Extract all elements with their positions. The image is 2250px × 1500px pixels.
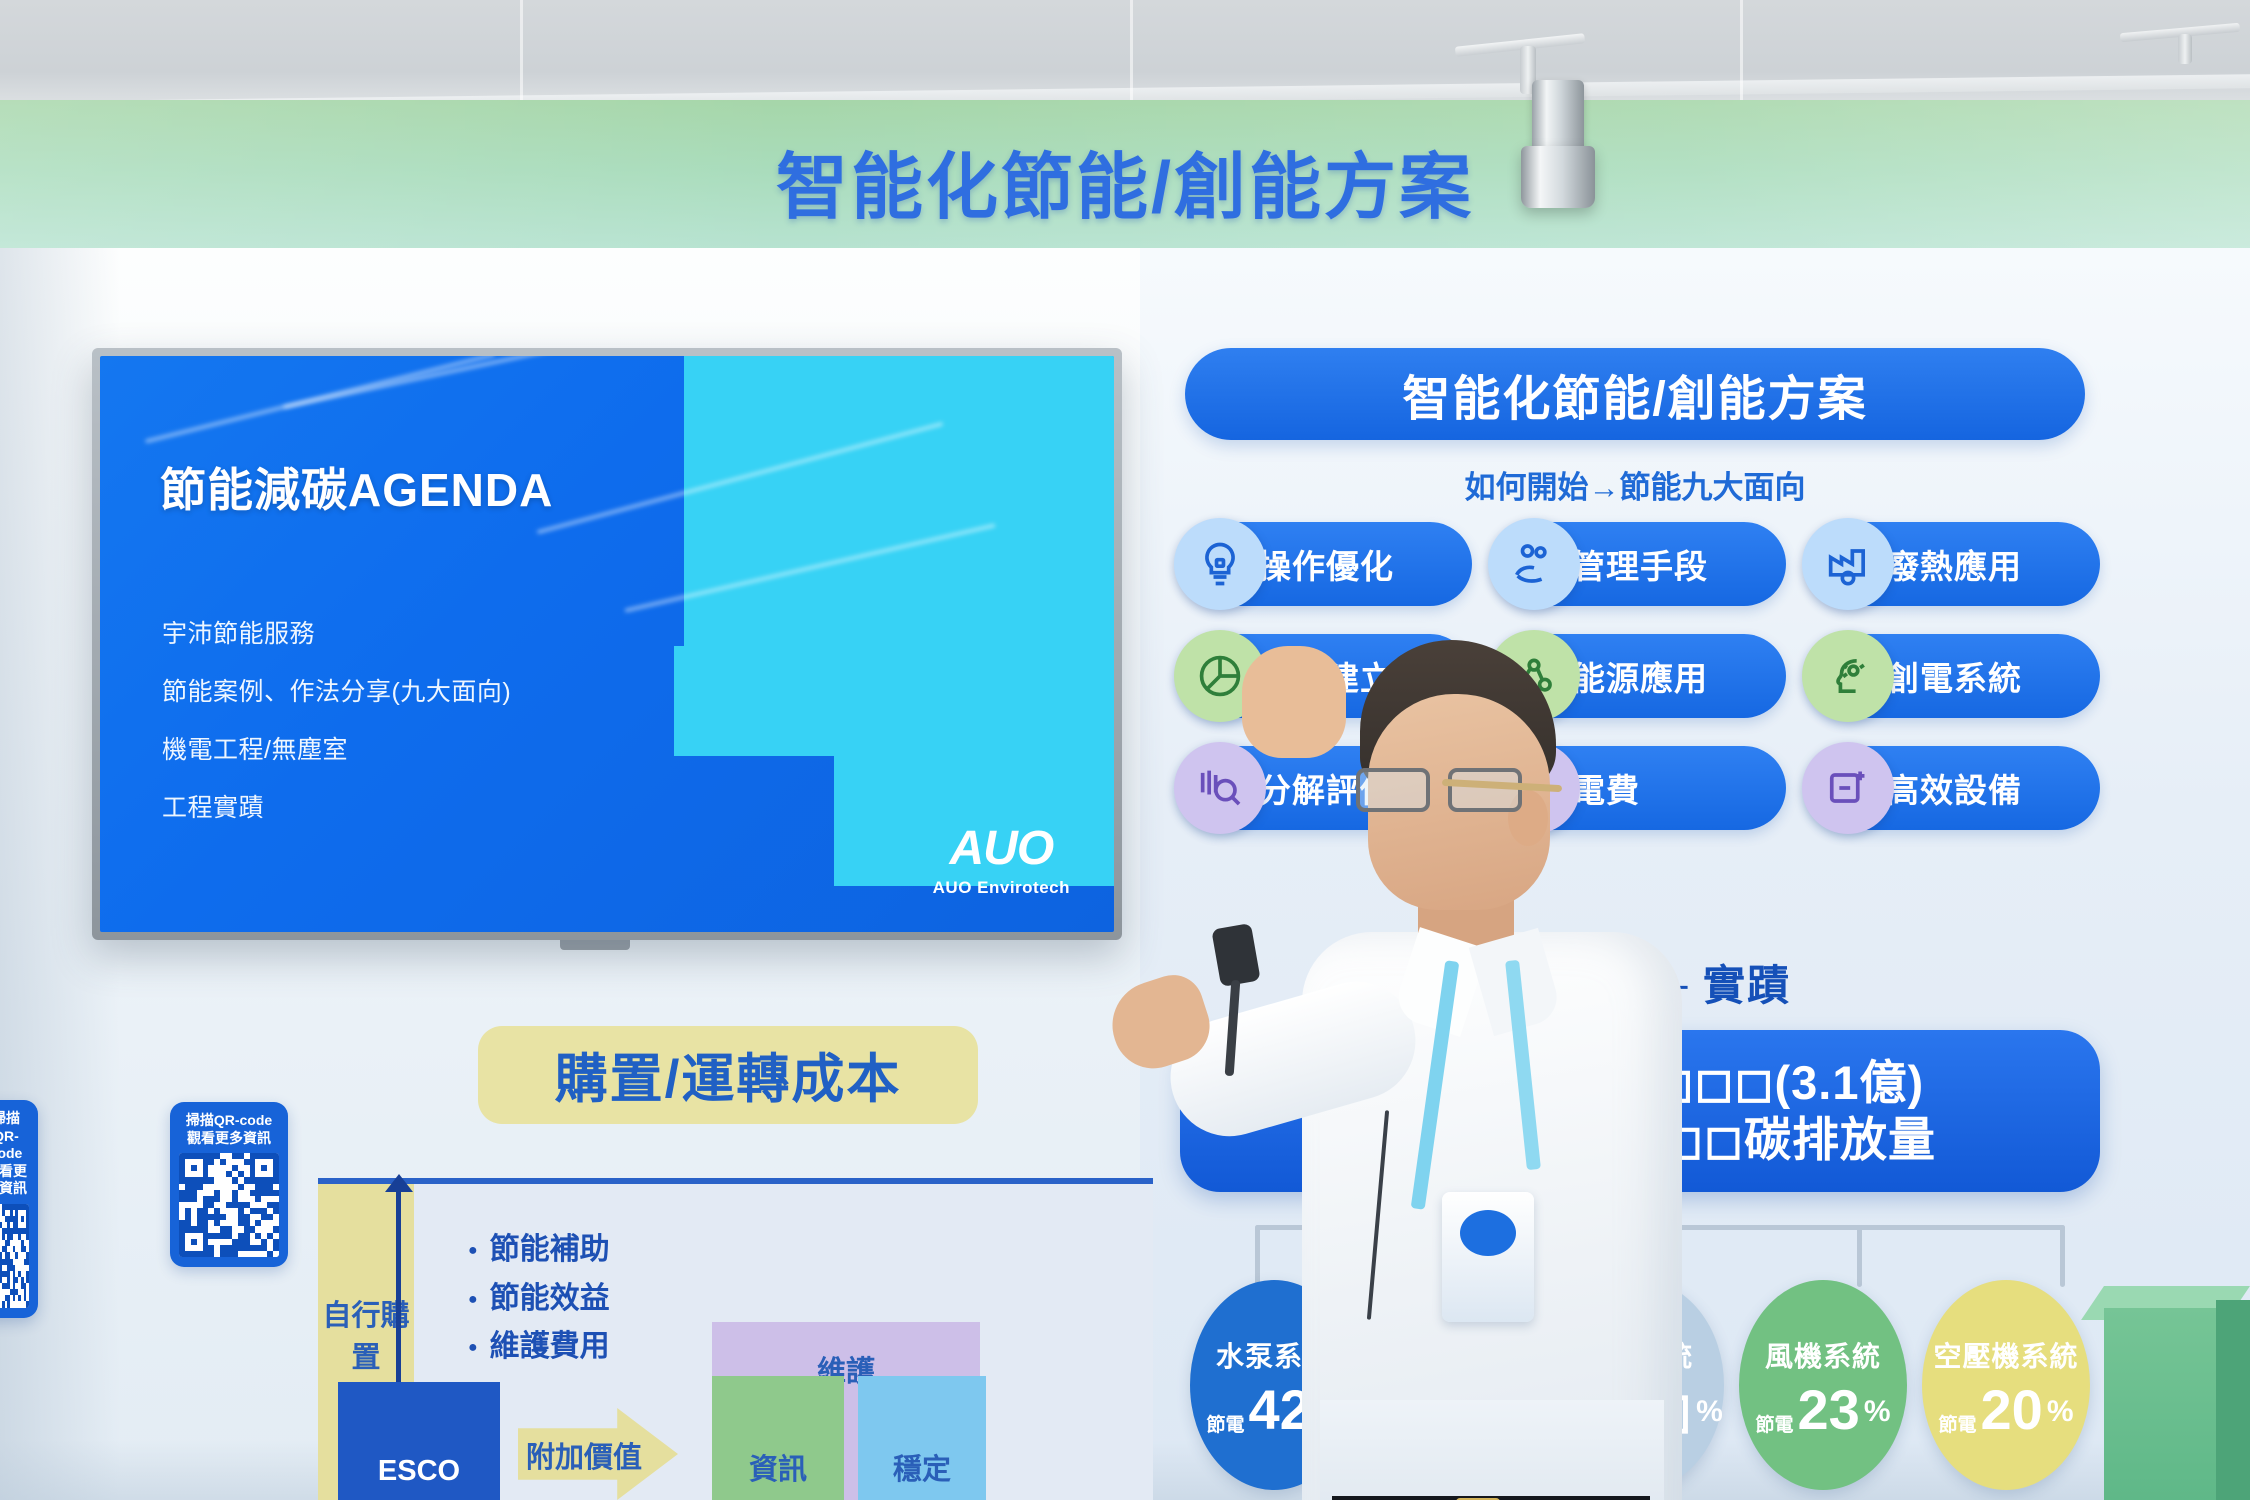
panel-subtitle: 如何開始→節能九大面向 [1185,462,2085,507]
spotlight-icon [1521,146,1595,208]
tv-screen: 節能減碳AGENDA 宇沛節能服務 節能案例、作法分享(九大面向) 機電工程/無… [100,356,1114,932]
slide-agenda-list: 宇沛節能服務 節能案例、作法分享(九大面向) 機電工程/無塵室 工程實蹟 [162,614,511,824]
savings-oval: 空壓機系統 節電 20 % [1922,1280,2090,1490]
qr-caption: 掃描QR-code 觀看更多資訊 [179,1112,279,1147]
chip-label: 創電系統 [1886,652,2022,700]
chart-top-rule [318,1178,1153,1184]
tv-stand [560,940,630,950]
list-item: 節能效益 [468,1275,610,1324]
cost-section-title: 購置/運轉成本 [478,1026,978,1124]
oval-unit: % [1864,1395,1891,1435]
connector-vertical [1255,1225,1260,1287]
presentation-display: 節能減碳AGENDA 宇沛節能服務 節能案例、作法分享(九大面向) 機電工程/無… [92,348,1122,940]
qr-caption: 掃描QR-code 觀看更多資訊 [0,1110,29,1198]
bar-label: 附加價值 [504,1434,664,1476]
booth-banner-title: 智能化節能/創能方案 [0,128,2250,233]
oval-prefix: 節電 [1207,1417,1245,1435]
qr-caption-line-2: 觀看更多資訊 [0,1163,27,1197]
savings-bullet-list: 節能補助 節能效益 維護費用 [468,1226,610,1372]
list-item: 節能案例、作法分享(九大面向) [162,672,511,708]
oval-system-name: 風機系統 [1765,1335,1881,1375]
green-pedestal-side [2216,1300,2250,1500]
presenter-shirt-hem [1320,1400,1664,1500]
qr-caption-line-1: 掃描QR-code [0,1110,22,1161]
bar-label: ESCO [338,1455,500,1488]
bar-stability: 穩定 [858,1376,986,1500]
qr-caption-line-1: 掃描QR-code [186,1112,272,1128]
qr-code-image [179,1153,279,1257]
bar-label-text: 資訊 [749,1454,807,1486]
connector-vertical [1857,1225,1862,1287]
chip-label: 管理手段 [1572,540,1708,588]
brain-atom-icon [1802,630,1894,722]
qr-card-left-partial[interactable]: 掃描QR-code 觀看更多資訊 [0,1100,38,1318]
oval-unit: % [2047,1395,2074,1435]
bar-esco: ESCO [338,1382,500,1500]
list-item: 宇沛節能服務 [162,614,511,650]
slide-title: 節能減碳AGENDA [160,454,553,520]
chip-power-generation-system: 創電系統 [1808,634,2100,718]
oval-value: 20 [1981,1385,2043,1435]
auo-logo: AUO AUO Envirotech [933,821,1070,898]
qr-code-image [0,1204,29,1308]
bar-label-text: 附加價值 [526,1442,642,1474]
spotlight-head [1532,80,1584,152]
auo-logo-wordmark: AUO [933,821,1070,876]
savings-oval: 風機系統 節電 23 % [1739,1280,1907,1490]
list-item: 節能補助 [468,1226,610,1275]
list-item: 工程實蹟 [162,788,511,824]
chip-high-efficiency-equipment: 高效設備 [1808,746,2100,830]
auo-logo-subtitle: AUO Envirotech [933,878,1070,898]
oval-prefix: 節電 [1939,1417,1977,1435]
panel-sparkle-icon [1802,742,1894,834]
list-item: 機電工程/無塵室 [162,730,511,766]
presenter [1280,640,1700,1500]
slide-streak [283,356,577,409]
lightbulb-icon [1174,518,1266,610]
eyeglasses-icon [1356,768,1532,812]
people-hand-icon [1488,518,1580,610]
oval-prefix: 節電 [1756,1417,1794,1435]
presenter-hand-holding-mic [1242,646,1346,758]
bar-label: 穩定 [858,1446,986,1488]
green-pedestal-front [2104,1308,2216,1500]
chip-management-method: 管理手段 [1494,522,1786,606]
chip-label: 廢熱應用 [1886,540,2022,588]
oval-value: 23 [1798,1385,1860,1435]
qr-card[interactable]: 掃描QR-code 觀看更多資訊 [170,1102,288,1267]
bar-information: 資訊 [712,1376,844,1500]
bar-label-text: ESCO [378,1455,460,1487]
connector-vertical [2060,1225,2065,1287]
spotlight-arm-secondary [2178,34,2192,64]
bar-label-text: 穩定 [893,1454,951,1486]
list-item: 維護費用 [468,1323,610,1372]
slide-shape-cyan-notch [674,646,834,756]
arrow-head-up [385,1174,413,1192]
badge-logo-icon [1460,1210,1516,1256]
oval-unit: % [1696,1395,1723,1435]
bar-added-value-arrow: 附加價值 [518,1408,678,1500]
magnifier-data-icon [1174,742,1266,834]
chip-waste-heat-application: 廢熱應用 [1808,522,2100,606]
chip-operation-optimization: 操作優化 [1180,522,1472,606]
exhibition-booth-scene: 智能化節能/創能方案 節能減碳AGENDA 宇沛節能服務 節能案例、作法分享(九… [0,0,2250,1500]
qr-caption-line-2: 觀看更多資訊 [187,1130,271,1146]
chip-label: 高效設備 [1886,764,2022,812]
factory-gear-icon [1802,518,1894,610]
chip-label: 操作優化 [1258,540,1394,588]
bar-label: 資訊 [712,1446,844,1488]
panel-title: 智能化節能/創能方案 [1185,348,2085,440]
presenter-id-badge [1442,1192,1534,1322]
cost-comparison-chart: 自行購置 節能補助 節能效益 維護費用 ESCO 附加價值 維護 [318,1178,1153,1500]
oval-system-name: 空壓機系統 [1933,1335,2078,1375]
